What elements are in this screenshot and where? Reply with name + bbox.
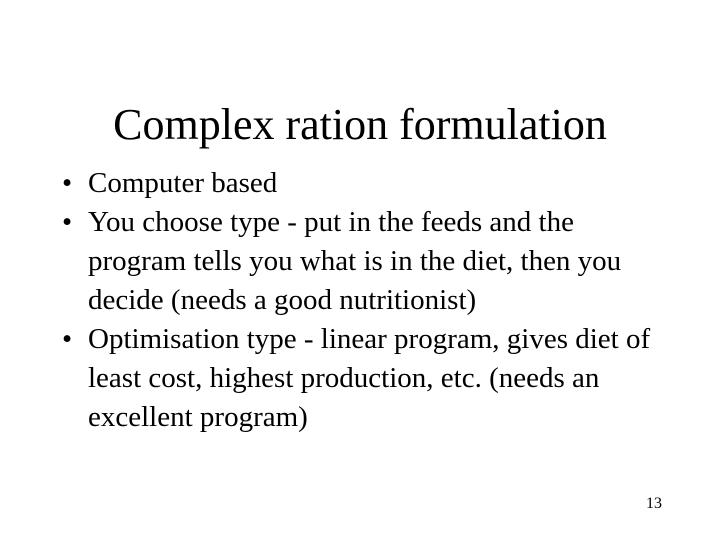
list-item-text: Optimisation type - linear program, give… (88, 320, 655, 437)
list-item: • You choose type - put in the feeds and… (55, 203, 655, 320)
list-item-text: You choose type - put in the feeds and t… (88, 203, 655, 320)
list-item: • Optimisation type - linear program, gi… (55, 320, 655, 437)
bullet-point-icon: • (62, 203, 82, 242)
list-item-text: Computer based (88, 164, 655, 203)
list-item: • Computer based (55, 164, 655, 203)
bullet-point-icon: • (62, 320, 82, 359)
slide-body: • Computer based • You choose type - put… (55, 164, 655, 437)
bullet-list: • Computer based • You choose type - put… (55, 164, 655, 437)
page-title: Complex ration formulation (40, 101, 680, 149)
presentation-slide: Complex ration formulation • Computer ba… (0, 0, 720, 540)
bullet-point-icon: • (62, 164, 82, 203)
page-number: 13 (646, 495, 662, 513)
